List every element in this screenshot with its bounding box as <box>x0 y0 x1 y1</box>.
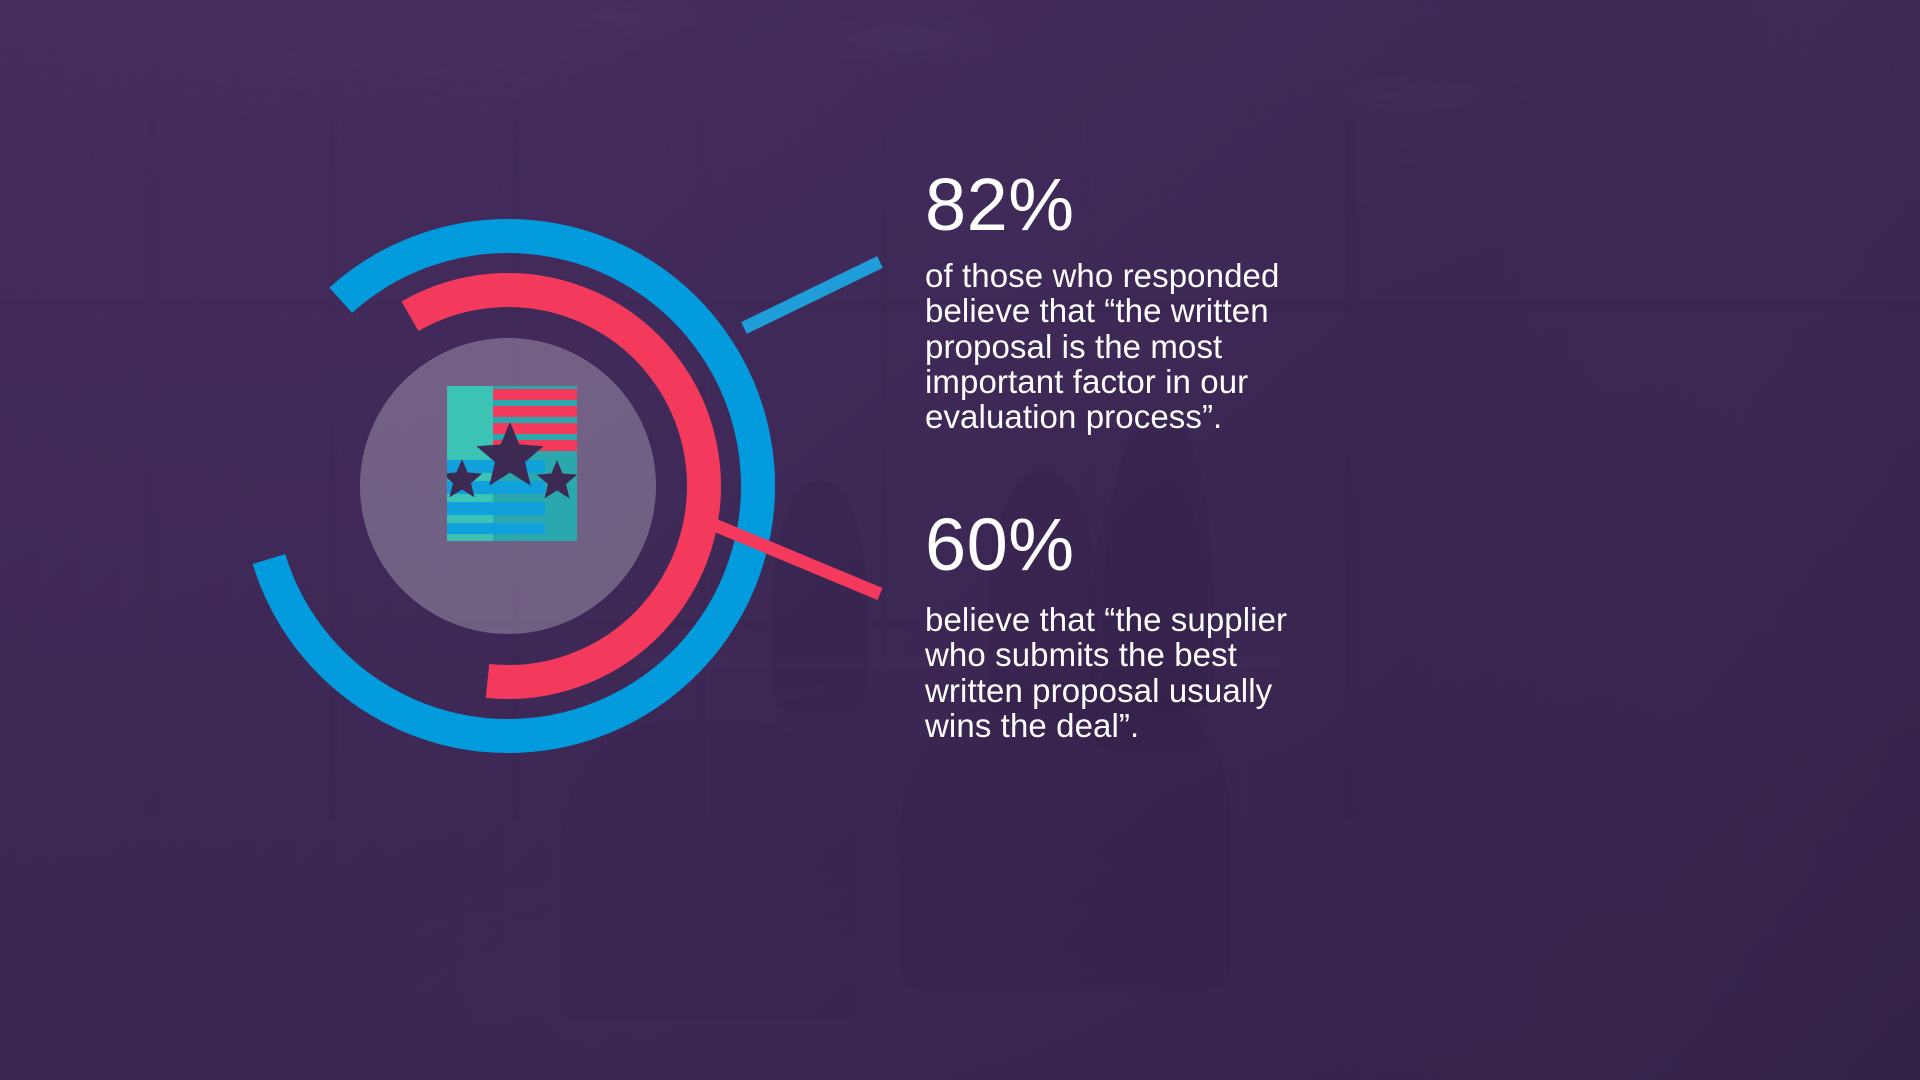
callout-82-percent: 82% of those who responded believe that … <box>925 168 1279 434</box>
stat-description-60-line-1: believe that “the supplier <box>925 602 1287 637</box>
infographic-slide: 82% of those who responded believe that … <box>0 0 1920 1080</box>
icon-panel-teal <box>447 386 493 454</box>
stat-description-82-line-3: proposal is the most <box>925 329 1279 364</box>
stat-description-82-line-5: evaluation process”. <box>925 399 1279 434</box>
stat-description-60-line-3: written proposal usually <box>925 673 1287 708</box>
callout-60-percent: 60% believe that “the supplier who submi… <box>925 508 1287 743</box>
stat-value-60: 60% <box>925 508 1287 582</box>
stat-description-60-line-2: who submits the best <box>925 637 1287 672</box>
stat-description-82-line-2: believe that “the written <box>925 293 1279 328</box>
icon-stripe-red-1 <box>493 389 577 400</box>
stat-value-82: 82% <box>925 168 1279 242</box>
stat-description-60: believe that “the supplier who submits t… <box>925 602 1287 743</box>
starred-proposal-document-icon <box>447 386 577 541</box>
stat-description-82: of those who responded believe that “the… <box>925 258 1279 434</box>
stat-description-82-line-4: important factor in our <box>925 364 1279 399</box>
icon-stripe-cyan-3 <box>447 502 545 515</box>
stat-description-60-line-4: wins the deal”. <box>925 708 1287 743</box>
icon-stripe-red-3 <box>493 423 577 434</box>
stat-description-82-line-1: of those who responded <box>925 258 1279 293</box>
icon-stripe-red-2 <box>493 406 577 417</box>
icon-stripe-cyan-4 <box>447 523 545 534</box>
